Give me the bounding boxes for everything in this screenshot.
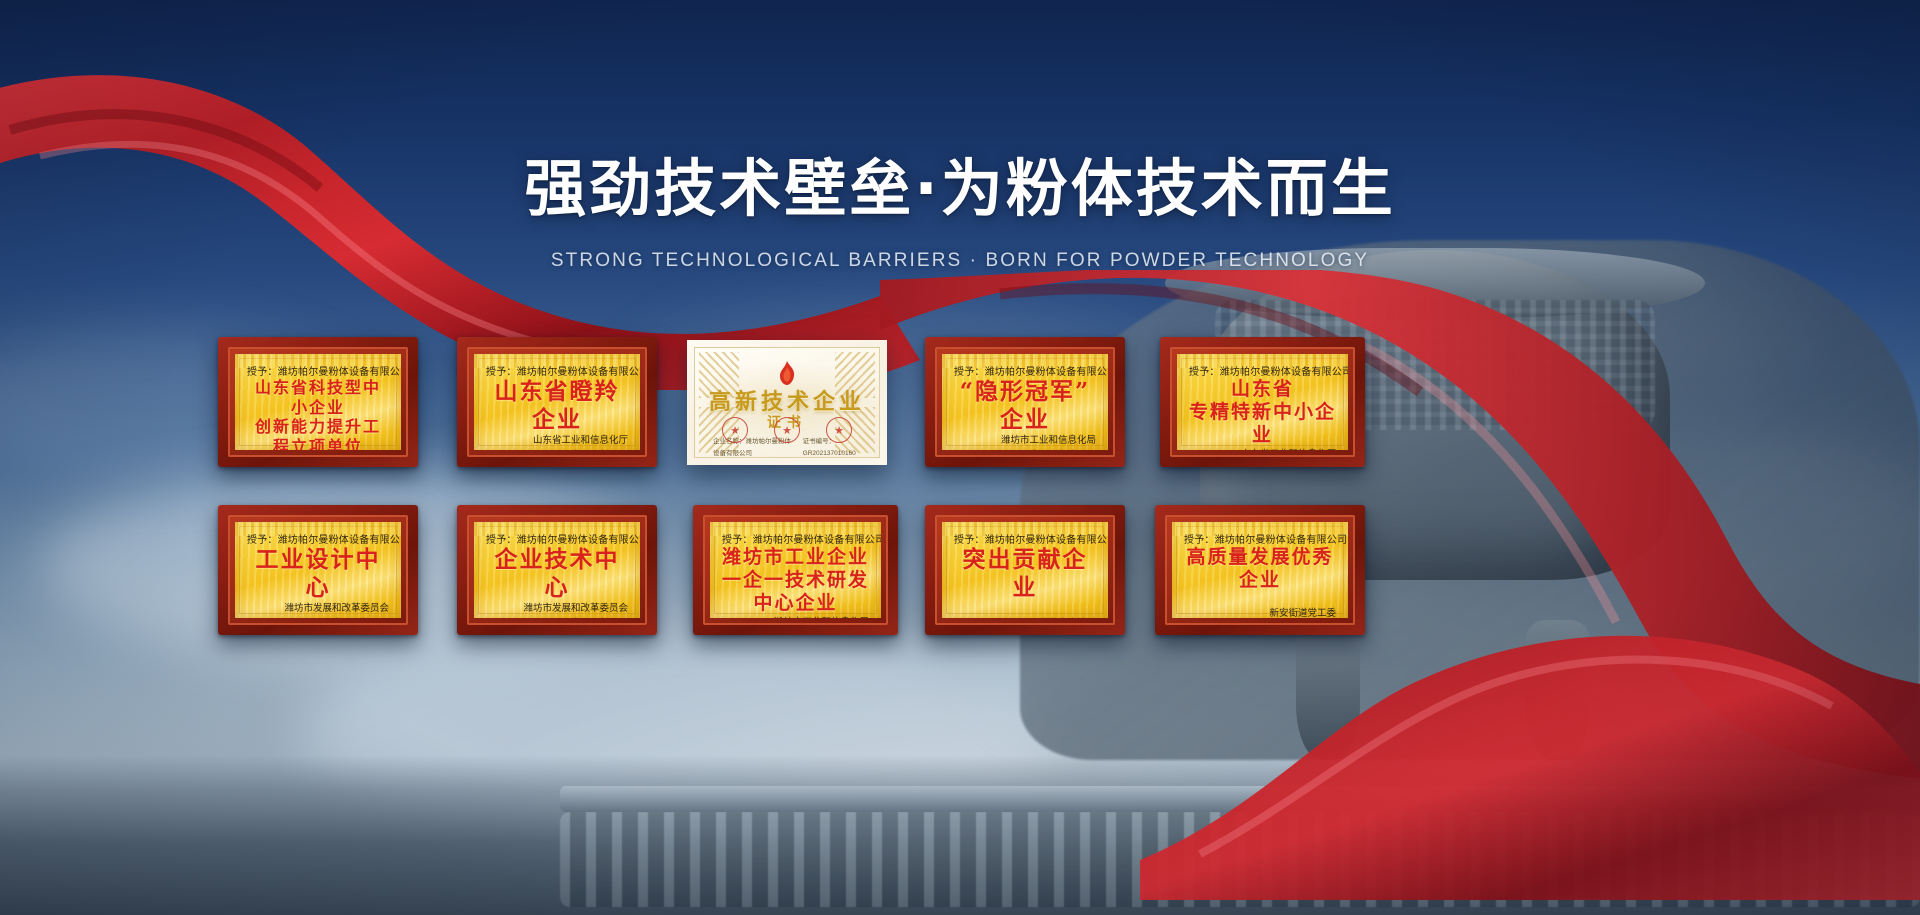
plaque-issuer: 潍坊市发展和改革委员会 二〇二二年七月 bbox=[247, 602, 389, 618]
award-plaque[interactable]: 授予：潍坊帕尔曼粉体设备有限公司 企业技术中心 潍坊市发展和改革委员会 二〇二二… bbox=[457, 505, 657, 635]
plaque-title-line: 山东省 bbox=[1231, 378, 1294, 401]
plaque-title-line: 企业技术中心 bbox=[486, 546, 628, 602]
plaque-frame: 授予：潍坊帕尔曼粉体设备有限公司 企业技术中心 潍坊市发展和改革委员会 二〇二二… bbox=[467, 515, 647, 625]
award-plaque[interactable]: 授予：潍坊帕尔曼粉体设备有限公司 高质量发展优秀企业 新安街道党工委 新安街道办… bbox=[1155, 505, 1365, 635]
plaque-date: 二〇二二年七月 bbox=[247, 617, 389, 618]
plaque-gold-panel: 授予：潍坊帕尔曼粉体设备有限公司 “隐形冠军”企业 潍坊市工业和信息化局 二〇二… bbox=[942, 354, 1108, 450]
plaque-title-line: 工业设计中心 bbox=[247, 546, 389, 602]
plaque-gold-panel: 授予：潍坊帕尔曼粉体设备有限公司 山东省瞪羚企业 山东省工业和信息化厅 二〇二三… bbox=[474, 354, 640, 450]
plaque-title: 企业技术中心 bbox=[486, 546, 628, 602]
plaque-title-line: 突出贡献企业 bbox=[954, 546, 1096, 602]
plaque-gold-panel: 授予：潍坊帕尔曼粉体设备有限公司 企业技术中心 潍坊市发展和改革委员会 二〇二二… bbox=[474, 522, 640, 618]
plaque-date: 二〇二三年七月 bbox=[486, 449, 628, 450]
plaque-issuer-name: 潍坊市工业和信息化局 bbox=[722, 616, 869, 618]
plaque-title-line: 一企一技术研发中心企业 bbox=[722, 569, 869, 615]
plaque-title: 山东省 专精特新中小企业 bbox=[1189, 378, 1336, 448]
plaque-gold-panel: 授予：潍坊帕尔曼粉体设备有限公司 山东省科技型中小企业 创新能力提升工程立项单位… bbox=[235, 354, 401, 450]
plaque-title: 工业设计中心 bbox=[247, 546, 389, 602]
official-seal-icon: ★ bbox=[722, 417, 748, 443]
plaque-title-line: 专精特新中小企业 bbox=[1189, 401, 1336, 447]
plaque-awardee: 授予：潍坊帕尔曼粉体设备有限公司 bbox=[954, 531, 1096, 546]
high-tech-certificate[interactable]: 高新技术企业 证书 企业名称：潍坊帕尔曼粉体设备有限公司 证书编号：GR2021… bbox=[687, 340, 887, 465]
award-plaque[interactable]: 授予：潍坊帕尔曼粉体设备有限公司 “隐形冠军”企业 潍坊市工业和信息化局 二〇二… bbox=[925, 337, 1125, 467]
plaque-awardee: 授予：潍坊帕尔曼粉体设备有限公司 bbox=[722, 531, 869, 546]
plaque-issuer: 山东省工业和信息化厅 二〇二三年七月 bbox=[486, 434, 628, 450]
banner-stage: 强劲技术壁垒·为粉体技术而生 STRONG TECHNOLOGICAL BARR… bbox=[0, 0, 1920, 915]
field-cert-no-value: GR202137010160 bbox=[803, 450, 856, 457]
banner-headline: 强劲技术壁垒·为粉体技术而生 STRONG TECHNOLOGICAL BARR… bbox=[0, 138, 1920, 272]
plaque-issuer-name: 新安街道党工委 新安街道办事处 bbox=[1184, 607, 1336, 618]
headline-english: STRONG TECHNOLOGICAL BARRIERS · BORN FOR… bbox=[0, 250, 1920, 272]
plaque-title-line: 高质量发展优秀企业 bbox=[1184, 546, 1336, 592]
plaque-awardee: 授予：潍坊帕尔曼粉体设备有限公司 bbox=[247, 531, 389, 546]
plaque-awardee: 授予：潍坊帕尔曼粉体设备有限公司 bbox=[486, 531, 628, 546]
plaque-frame: 授予：潍坊帕尔曼粉体设备有限公司 工业设计中心 潍坊市发展和改革委员会 二〇二二… bbox=[228, 515, 408, 625]
plaque-gold-panel: 授予：潍坊帕尔曼粉体设备有限公司 高质量发展优秀企业 新安街道党工委 新安街道办… bbox=[1172, 522, 1348, 618]
plaque-frame: 授予：潍坊帕尔曼粉体设备有限公司 “隐形冠军”企业 潍坊市工业和信息化局 二〇二… bbox=[935, 347, 1115, 457]
official-seal-icon: ★ bbox=[774, 417, 800, 443]
plaque-title: “隐形冠军”企业 bbox=[954, 378, 1096, 434]
plaque-title-line: “隐形冠军”企业 bbox=[954, 378, 1096, 434]
plaque-frame: 授予：潍坊帕尔曼粉体设备有限公司 山东省科技型中小企业 创新能力提升工程立项单位… bbox=[228, 347, 408, 457]
award-plaque[interactable]: 授予：潍坊帕尔曼粉体设备有限公司 潍坊市工业企业 一企一技术研发中心企业 潍坊市… bbox=[693, 505, 898, 635]
plaque-title: 潍坊市工业企业 一企一技术研发中心企业 bbox=[722, 546, 869, 616]
plaque-title: 高质量发展优秀企业 bbox=[1184, 546, 1336, 592]
plaque-gold-panel: 授予：潍坊帕尔曼粉体设备有限公司 潍坊市工业企业 一企一技术研发中心企业 潍坊市… bbox=[710, 522, 881, 618]
plaque-gold-panel: 授予：潍坊帕尔曼粉体设备有限公司 突出贡献企业 中共官庄镇委 官庄镇人民政府 二… bbox=[942, 522, 1108, 618]
plaque-awardee: 授予：潍坊帕尔曼粉体设备有限公司 bbox=[954, 363, 1096, 378]
headline-chinese: 强劲技术壁垒·为粉体技术而生 bbox=[0, 138, 1920, 228]
official-seal-icon: ★ bbox=[826, 417, 852, 443]
plaque-issuer: 潍坊市工业和信息化局 二〇二二年九月 bbox=[722, 616, 869, 618]
plaque-awardee: 授予：潍坊帕尔曼粉体设备有限公司 bbox=[1184, 531, 1336, 546]
plaque-gold-panel: 授予：潍坊帕尔曼粉体设备有限公司 工业设计中心 潍坊市发展和改革委员会 二〇二二… bbox=[235, 522, 401, 618]
award-plaque[interactable]: 授予：潍坊帕尔曼粉体设备有限公司 工业设计中心 潍坊市发展和改革委员会 二〇二二… bbox=[218, 505, 418, 635]
plaque-issuer-name: 中共官庄镇委 官庄镇人民政府 bbox=[954, 617, 1096, 618]
plaque-awardee: 授予：潍坊帕尔曼粉体设备有限公司 bbox=[247, 363, 389, 378]
certificate-seals: ★ ★ ★ bbox=[695, 417, 879, 443]
plaque-awardee: 授予：潍坊帕尔曼粉体设备有限公司 bbox=[1189, 363, 1336, 378]
award-plaque[interactable]: 授予：潍坊帕尔曼粉体设备有限公司 山东省科技型中小企业 创新能力提升工程立项单位… bbox=[218, 337, 418, 467]
plaque-title-line: 山东省科技型中小企业 bbox=[247, 378, 389, 417]
plaque-issuer: 山东省工业和信息化厅 bbox=[1189, 448, 1336, 450]
plaque-frame: 授予：潍坊帕尔曼粉体设备有限公司 山东省瞪羚企业 山东省工业和信息化厅 二〇二三… bbox=[467, 347, 647, 457]
plaque-frame: 授予：潍坊帕尔曼粉体设备有限公司 高质量发展优秀企业 新安街道党工委 新安街道办… bbox=[1165, 515, 1355, 625]
plaque-awardee: 授予：潍坊帕尔曼粉体设备有限公司 bbox=[486, 363, 628, 378]
plaque-issuer-name: 山东省工业和信息化厅 bbox=[1189, 448, 1336, 450]
award-plaque[interactable]: 授予：潍坊帕尔曼粉体设备有限公司 山东省 专精特新中小企业 山东省工业和信息化厅 bbox=[1160, 337, 1365, 467]
plaque-title-line: 山东省瞪羚企业 bbox=[486, 378, 628, 434]
plaque-title: 山东省瞪羚企业 bbox=[486, 378, 628, 434]
plaque-issuer-name: 潍坊市发展和改革委员会 bbox=[247, 602, 389, 617]
plaque-date: 二〇二二年七月 bbox=[486, 617, 628, 618]
plaque-title: 突出贡献企业 bbox=[954, 546, 1096, 602]
plaque-issuer: 新安街道党工委 新安街道办事处 二〇二三年二月 bbox=[1184, 592, 1336, 618]
plaque-date: 二〇二二年十一月 bbox=[954, 449, 1096, 450]
award-plaque[interactable]: 授予：潍坊帕尔曼粉体设备有限公司 山东省瞪羚企业 山东省工业和信息化厅 二〇二三… bbox=[457, 337, 657, 467]
high-tech-flame-icon bbox=[776, 360, 798, 386]
plaque-issuer: 潍坊市发展和改革委员会 二〇二二年七月 bbox=[486, 602, 628, 618]
plaque-title-line: 创新能力提升工程立项单位 bbox=[247, 417, 389, 450]
plaque-issuer-name: 潍坊市工业和信息化局 bbox=[954, 434, 1096, 449]
plaque-gold-panel: 授予：潍坊帕尔曼粉体设备有限公司 山东省 专精特新中小企业 山东省工业和信息化厅 bbox=[1177, 354, 1348, 450]
plaque-issuer-name: 潍坊市发展和改革委员会 bbox=[486, 602, 628, 617]
certificate-inner: 高新技术企业 证书 企业名称：潍坊帕尔曼粉体设备有限公司 证书编号：GR2021… bbox=[694, 347, 880, 458]
plaque-issuer: 中共官庄镇委 官庄镇人民政府 二〇二〇年一月 bbox=[954, 602, 1096, 618]
plaque-frame: 授予：潍坊帕尔曼粉体设备有限公司 山东省 专精特新中小企业 山东省工业和信息化厅 bbox=[1170, 347, 1355, 457]
plaque-frame: 授予：潍坊帕尔曼粉体设备有限公司 突出贡献企业 中共官庄镇委 官庄镇人民政府 二… bbox=[935, 515, 1115, 625]
plaque-issuer: 潍坊市工业和信息化局 二〇二二年十一月 bbox=[954, 434, 1096, 450]
plaque-issuer-name: 山东省工业和信息化厅 bbox=[486, 434, 628, 449]
plaque-title-line: 潍坊市工业企业 bbox=[722, 546, 869, 569]
award-plaque[interactable]: 授予：潍坊帕尔曼粉体设备有限公司 突出贡献企业 中共官庄镇委 官庄镇人民政府 二… bbox=[925, 505, 1125, 635]
plaque-title: 山东省科技型中小企业 创新能力提升工程立项单位 bbox=[247, 378, 389, 450]
plaque-frame: 授予：潍坊帕尔曼粉体设备有限公司 潍坊市工业企业 一企一技术研发中心企业 潍坊市… bbox=[703, 515, 888, 625]
